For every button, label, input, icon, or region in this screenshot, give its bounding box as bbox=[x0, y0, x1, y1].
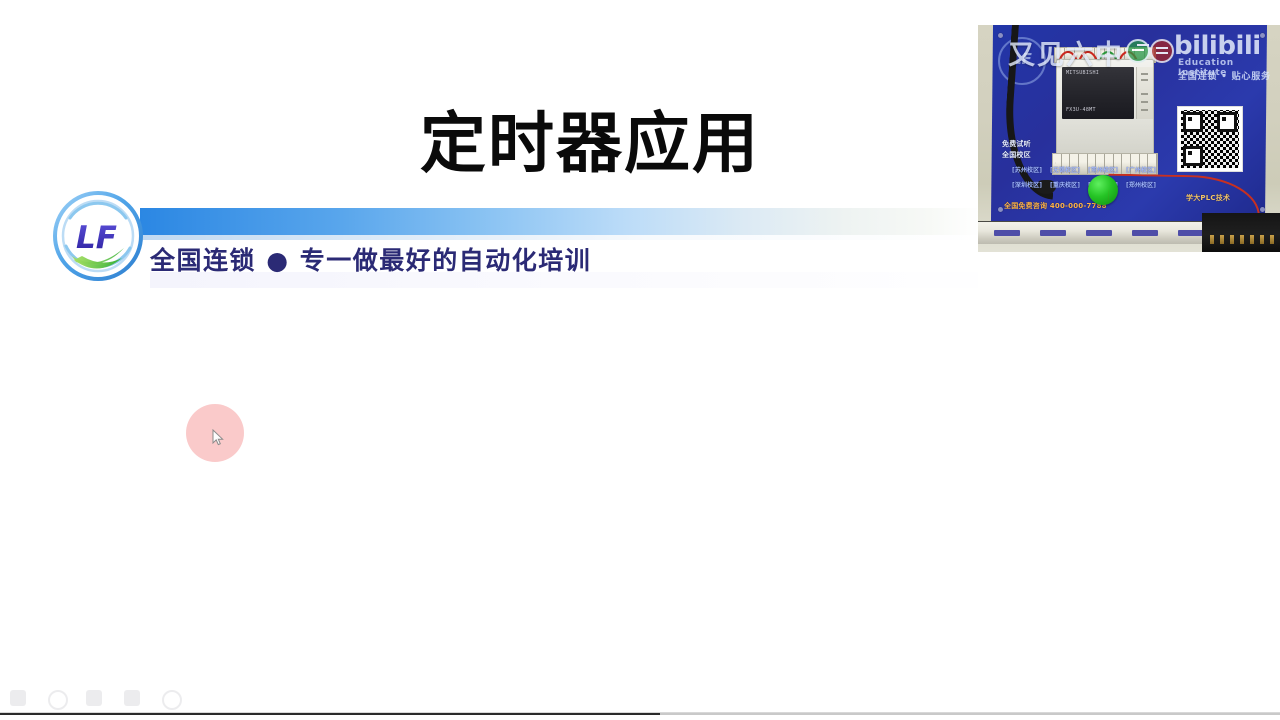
board-free-trial-line2: 全国校区 bbox=[1002, 150, 1031, 160]
svg-text:LF: LF bbox=[76, 220, 117, 256]
terminal-connector-bank bbox=[1202, 213, 1280, 252]
ghost-icon-5 bbox=[162, 690, 182, 710]
board-campus-2: [无锡校区] bbox=[1050, 165, 1080, 174]
accent-divider-shadow bbox=[140, 235, 980, 240]
bottom-rule-faded bbox=[660, 713, 1280, 715]
panel-screw bbox=[998, 207, 1003, 212]
board-campus-6: [重庆校区] bbox=[1050, 180, 1080, 189]
watermark-brand-text: bilibili bbox=[1174, 31, 1261, 61]
watermark-cn-text: 又见六中 bbox=[1008, 33, 1124, 72]
ghost-icon-4 bbox=[124, 690, 140, 706]
ghost-icon-2 bbox=[48, 690, 68, 710]
bottom-rule-dark bbox=[0, 713, 660, 715]
ghost-icon-3 bbox=[86, 690, 102, 706]
watermark-plus-icon bbox=[1126, 39, 1150, 63]
board-campus-3: [常州校区] bbox=[1088, 165, 1118, 174]
lf-logo: LF bbox=[52, 190, 144, 282]
subtitle-tagline: 全国连锁 ● 专一做最好的自动化培训 bbox=[150, 241, 591, 277]
panel-screw bbox=[998, 33, 1003, 38]
board-campus-4: [广州校区] bbox=[1126, 165, 1156, 174]
panel-screw bbox=[1260, 207, 1265, 212]
watermark-equals-icon bbox=[1150, 39, 1174, 63]
board-campus-1: [苏州校区] bbox=[1012, 165, 1042, 174]
ghost-toolbar bbox=[0, 686, 212, 712]
ghost-icon-1 bbox=[10, 690, 26, 706]
presentation-slide: 定时器应用 bbox=[0, 0, 1280, 720]
qr-code bbox=[1178, 107, 1242, 171]
plc-model-label: FX3U-48MT bbox=[1066, 107, 1096, 113]
video-overlay[interactable]: MITSUBISHI FX3U-48MT 免费试听 全国校区 [苏州校区] [无… bbox=[978, 25, 1280, 252]
channel-watermark: 又见六中 bilibili Education Institute 全国连锁 •… bbox=[1008, 31, 1276, 81]
accent-divider-bar bbox=[140, 208, 980, 235]
board-hotline: 全国免费咨询 400-000-7788 bbox=[1004, 201, 1107, 211]
lf-logo-icon: LF bbox=[52, 190, 144, 282]
board-free-trial-line1: 免费试听 bbox=[1002, 139, 1031, 149]
mouse-cursor-icon bbox=[212, 429, 224, 446]
watermark-tagline-cn: 全国连锁 • 贴心服务 bbox=[1178, 69, 1271, 82]
board-campus-5: [深圳校区] bbox=[1012, 180, 1042, 189]
